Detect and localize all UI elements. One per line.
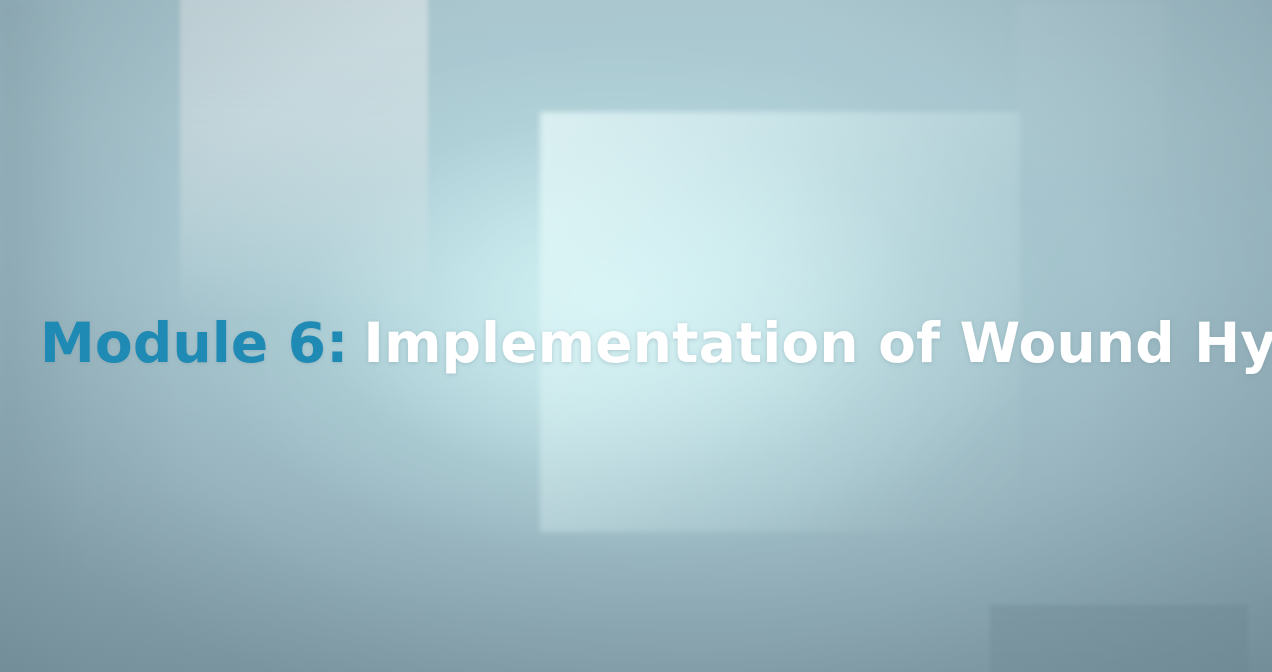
title-module-label: Module 6: bbox=[40, 316, 348, 371]
title-slide: Module 6: Implementation of Wound Hygien… bbox=[0, 0, 1272, 672]
background-panel-sliver-right bbox=[1016, 0, 1166, 210]
background-panel-bottom-right bbox=[990, 605, 1248, 672]
slide-title: Module 6: Implementation of Wound Hygien… bbox=[40, 316, 1260, 406]
title-subject: Implementation of Wound Hygiene bbox=[363, 316, 1272, 371]
background-panel-band-left bbox=[180, 0, 428, 320]
